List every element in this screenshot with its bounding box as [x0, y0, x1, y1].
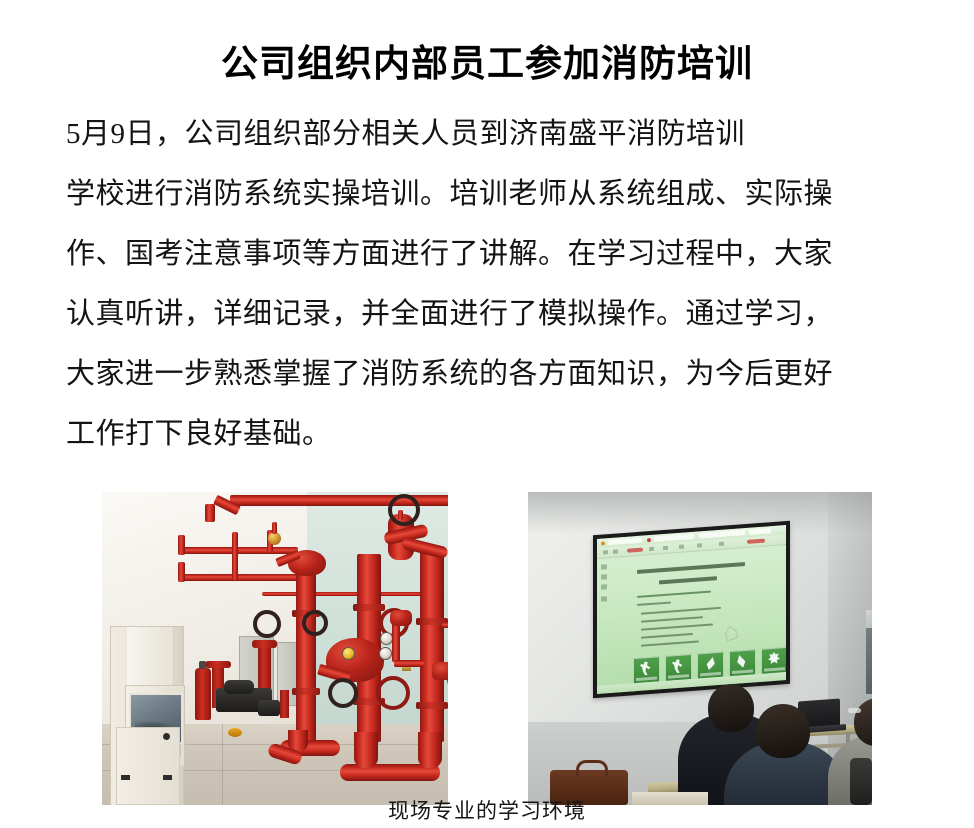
attendee-head [708, 684, 754, 732]
valve-handwheel [328, 678, 358, 708]
slide-subheading [659, 576, 717, 584]
document-watermark: ⌂ [719, 615, 741, 648]
drop-pipe [205, 504, 215, 522]
branch-pipe [178, 547, 298, 554]
riser-foot [418, 732, 442, 768]
toolbar-highlight[interactable] [627, 548, 643, 553]
panel-door [116, 727, 180, 805]
projected-document: ⌂ [597, 525, 786, 694]
cross-tie [262, 592, 444, 596]
fire-alarm-control-panel [110, 626, 184, 805]
toolbar-icon[interactable] [719, 542, 724, 546]
floor-marker [228, 728, 242, 737]
slide-text [641, 623, 713, 630]
flange [292, 688, 320, 695]
body-line: 5月9日，公司组织部分相关人员到济南盛平消防培训 [66, 104, 910, 164]
sidebar-icon[interactable] [601, 574, 607, 579]
eyeglasses [848, 708, 861, 713]
sidebar-icon[interactable] [601, 564, 607, 569]
body-line: 工作打下良好基础。 [66, 404, 910, 464]
right-photo-scene: ⌂ [528, 492, 872, 805]
valve-handwheel [388, 494, 420, 526]
panel-pillar [127, 627, 174, 689]
branch-riser [178, 535, 185, 555]
riser-foot [354, 732, 378, 768]
attendee-head [756, 704, 810, 758]
floor-seam [222, 724, 223, 805]
tab-favicon [647, 537, 651, 541]
extinguisher-valve [199, 661, 206, 669]
slide-text [641, 640, 699, 646]
branch-riser [178, 562, 185, 582]
pressure-gauge [342, 647, 355, 660]
trim-pipe [394, 660, 424, 667]
riser-cap [205, 661, 231, 668]
valve-handwheel [376, 676, 410, 710]
flange [353, 604, 385, 611]
toolbar-icon[interactable] [649, 547, 654, 551]
toolbar-icon[interactable] [603, 550, 608, 554]
body-line: 认真听讲，详细记录，并全面进行了模拟操作。通过学习， [66, 284, 910, 344]
toolbar-highlight[interactable] [747, 539, 765, 544]
body-line: 大家进一步熟悉掌握了消防系统的各方面知识，为今后更好 [66, 344, 910, 404]
photo-caption: 现场专业的学习环境 [0, 795, 974, 825]
body-line: 学校进行消防系统实操培训。培训老师从系统组成、实际操 [66, 164, 910, 224]
toolbar-icon[interactable] [613, 549, 618, 553]
slide-text [641, 616, 703, 623]
page-title: 公司组织内部员工参加消防培训 [0, 39, 974, 89]
left-photo-scene [102, 492, 448, 805]
riser-1 [296, 552, 316, 742]
slide-text [641, 633, 693, 639]
direction-arrow-sign [697, 652, 724, 680]
pump-housing [224, 680, 254, 694]
photo-fire-pump-room [102, 492, 448, 805]
article-body: 5月9日，公司组织部分相关人员到济南盛平消防培训 学校进行消防系统实操培训。培训… [66, 104, 910, 464]
tab-favicon [601, 541, 605, 545]
pump-base [258, 700, 280, 716]
pipe-stub [280, 690, 289, 718]
flange [416, 702, 448, 709]
hydrant-head [252, 640, 277, 648]
photo-row: ⌂ [62, 476, 912, 789]
pressure-gauge [379, 647, 392, 660]
butterfly-valve [432, 662, 448, 680]
slide-text [637, 602, 671, 606]
fire-extinguisher [195, 668, 211, 720]
toolbar-icon[interactable] [663, 546, 668, 550]
valve-handwheel [302, 610, 328, 636]
panel-handle [121, 775, 130, 780]
exit-sign-graphic [633, 656, 660, 684]
panel-handle [163, 775, 172, 780]
branch-riser [232, 532, 238, 580]
briefcase-handle [576, 760, 608, 776]
body-line: 作、国考注意事项等方面进行了讲解。在学习过程中，大家 [66, 224, 910, 284]
valve-handwheel [253, 610, 281, 638]
branch-pipe [178, 574, 306, 581]
butterfly-valve [390, 610, 412, 626]
photo-classroom-training: ⌂ [528, 492, 872, 805]
toolbar-icon[interactable] [697, 543, 702, 547]
direction-arrow-sign [729, 649, 756, 677]
riser-3 [420, 547, 444, 742]
slide-text [637, 591, 711, 598]
slide-text [641, 607, 721, 615]
assembly-point-sign [761, 647, 786, 675]
sprinkler-drop [272, 522, 277, 534]
sidebar-icon[interactable] [601, 596, 607, 601]
trim-pipe [442, 622, 448, 628]
valve-stem [398, 510, 403, 520]
sidebar-icon[interactable] [601, 584, 607, 589]
projector-screen-frame: ⌂ [593, 521, 790, 698]
browser-tab[interactable] [749, 528, 771, 535]
slide-heading [637, 562, 745, 574]
panel-lock [163, 733, 170, 740]
toolbar-icon[interactable] [679, 545, 684, 549]
exit-sign-graphic [665, 654, 692, 682]
